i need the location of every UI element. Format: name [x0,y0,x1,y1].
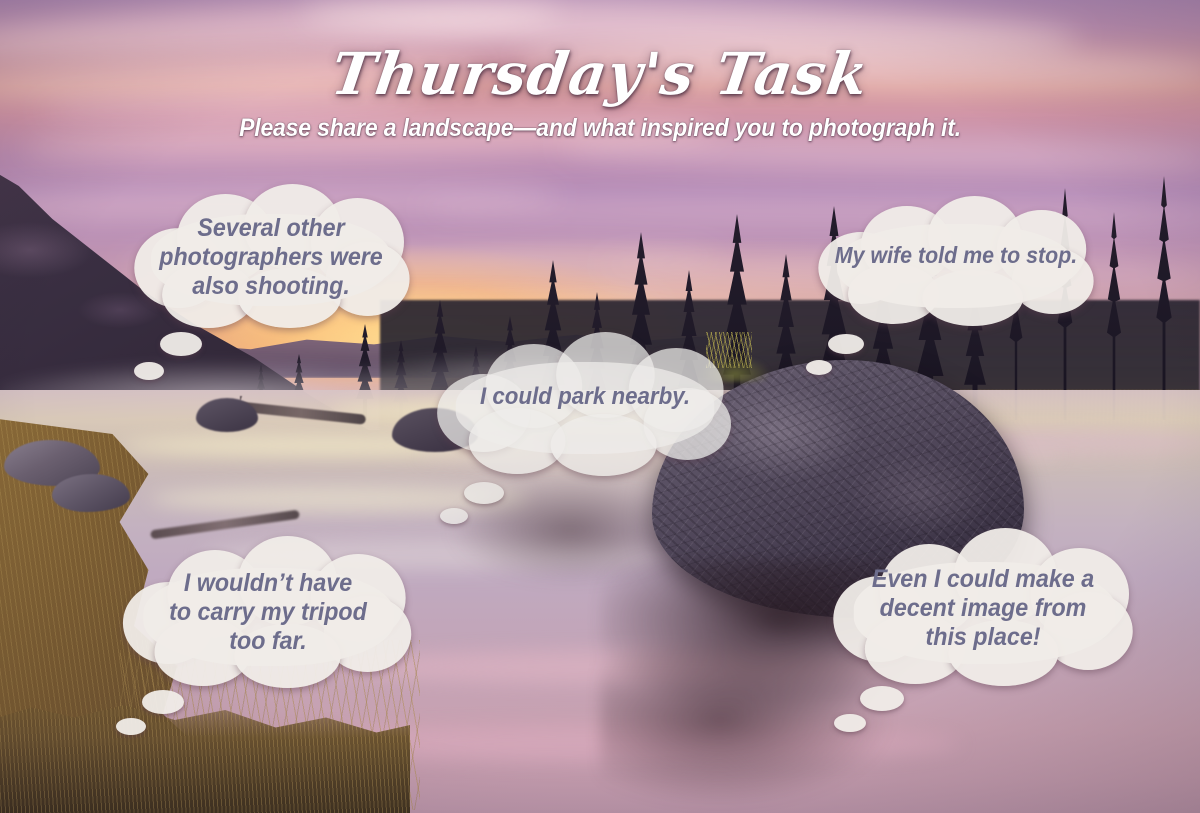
conifer-tree [1140,176,1188,420]
thought-bubble-shape: I could park nearby. [435,330,734,480]
thought-bubble-dot [828,334,864,354]
thought-bubble-wife: My wife told me to stop. [806,194,1106,330]
thought-bubble-shape: Several other photographers were also sh… [129,184,414,330]
thought-bubble-decent: Even I could make a decent image from th… [820,526,1146,690]
poster-canvas: Thursday's Task Please share a landscape… [0,0,1200,813]
thought-bubble-dot [834,714,866,732]
page-title: Thursday's Task [0,40,1200,108]
thought-bubble-dot [806,360,832,375]
thought-bubble-shape: I wouldn’t have to carry my tripod too f… [123,534,413,690]
bank-rock [52,474,130,512]
thought-bubble-dot [860,686,904,711]
page-subtitle: Please share a landscape—and what inspir… [48,114,1152,143]
thought-bubble-dot [464,482,504,504]
thought-bubble-shape: Even I could make a decent image from th… [831,526,1134,690]
thought-bubble-dot [160,332,202,356]
thought-bubble-dot [116,718,146,735]
thought-bubble-park: I could park nearby. [424,330,746,480]
river-rock [196,398,258,432]
thought-bubble-shape: My wife told me to stop. [817,194,1096,330]
thought-bubble-dot [142,690,184,714]
thought-bubble-text: My wife told me to stop. [822,242,1090,269]
thought-bubble-text: Several other photographers were also sh… [146,214,396,301]
thought-bubble-photographers: Several other photographers were also sh… [118,184,424,330]
thought-bubble-dot [134,362,164,380]
thought-bubble-dot [440,508,468,524]
thought-bubble-text: Even I could make a decent image from th… [859,565,1107,652]
thought-bubble-text: I could park nearby. [467,383,703,411]
thought-bubble-text: I wouldn’t have to carry my tripod too f… [156,569,380,656]
thought-bubble-tripod: I wouldn’t have to carry my tripod too f… [112,534,424,690]
